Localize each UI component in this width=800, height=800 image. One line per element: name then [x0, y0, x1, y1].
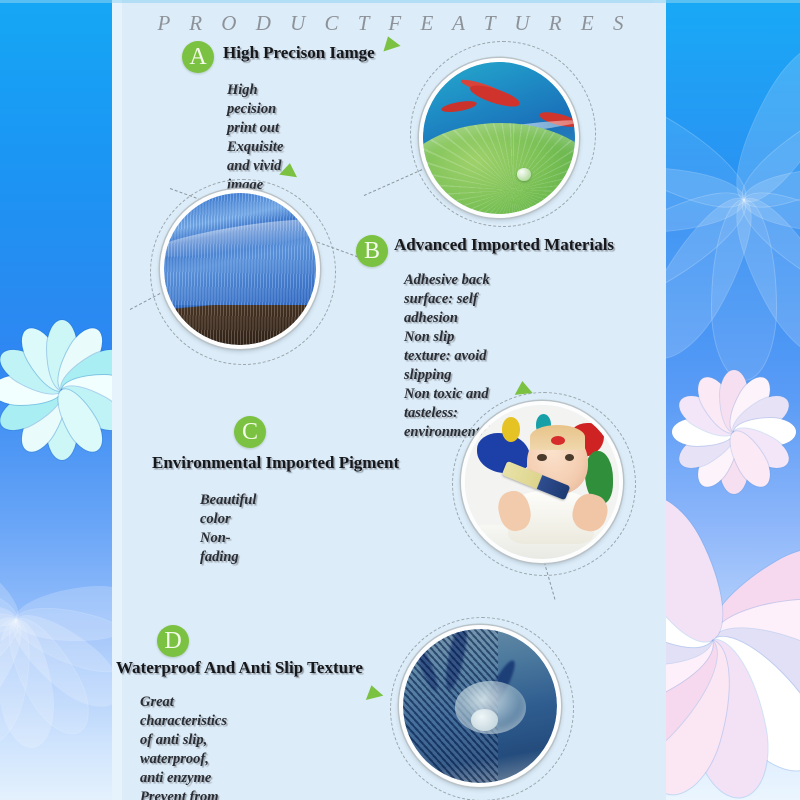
heading-d: Waterproof And Anti Slip Texture	[116, 658, 363, 678]
page-title: P R O D U C T F E A T U R E S	[122, 11, 666, 36]
heading-a: High Precison Iamge	[223, 43, 375, 63]
arrow-to-photo-b	[279, 162, 299, 177]
badge-c: C	[234, 416, 266, 448]
right-decorative-strip	[666, 0, 800, 800]
body-d: Great characteristics of anti slip, wate…	[140, 693, 227, 800]
baby-eye-left	[537, 454, 546, 461]
paint-dot-forehead	[551, 436, 565, 445]
badge-a: A	[182, 41, 214, 73]
arrow-to-photo-c	[513, 380, 532, 395]
fabric-weave-texture	[164, 193, 316, 345]
body-b: Adhesive back surface: self adhesion Non…	[404, 271, 491, 442]
flower-petal	[666, 498, 712, 657]
lotus-leaf-veins	[423, 123, 575, 214]
arrow-to-photo-d	[363, 683, 384, 700]
heading-c: Environmental Imported Pigment	[152, 453, 399, 473]
koi-fish-lotus-leaf-photo	[423, 62, 575, 214]
badge-d: D	[157, 625, 189, 657]
water-droplet	[517, 168, 531, 180]
body-c: Beautiful color Non-fading	[200, 491, 256, 567]
heading-b: Advanced Imported Materials	[394, 235, 614, 255]
photo-b	[160, 189, 320, 349]
arrow-to-photo-a	[379, 34, 400, 52]
badge-b: B	[356, 235, 388, 267]
baby-with-paint-photo	[465, 405, 619, 559]
main-content-panel: P R O D U C T F E A T U R E S A High Pre…	[122, 3, 666, 800]
photo-a	[419, 58, 579, 218]
blue-fabric-material-photo	[164, 193, 316, 345]
left-decorative-strip	[0, 0, 112, 800]
product-features-poster: P R O D U C T F E A T U R E S A High Pre…	[0, 0, 800, 800]
photo-c	[461, 401, 623, 563]
waterproof-texture-droplet-photo	[403, 629, 557, 783]
water-bead-small	[471, 709, 499, 731]
photo-d	[399, 625, 561, 787]
left-panel-gap	[112, 0, 122, 800]
